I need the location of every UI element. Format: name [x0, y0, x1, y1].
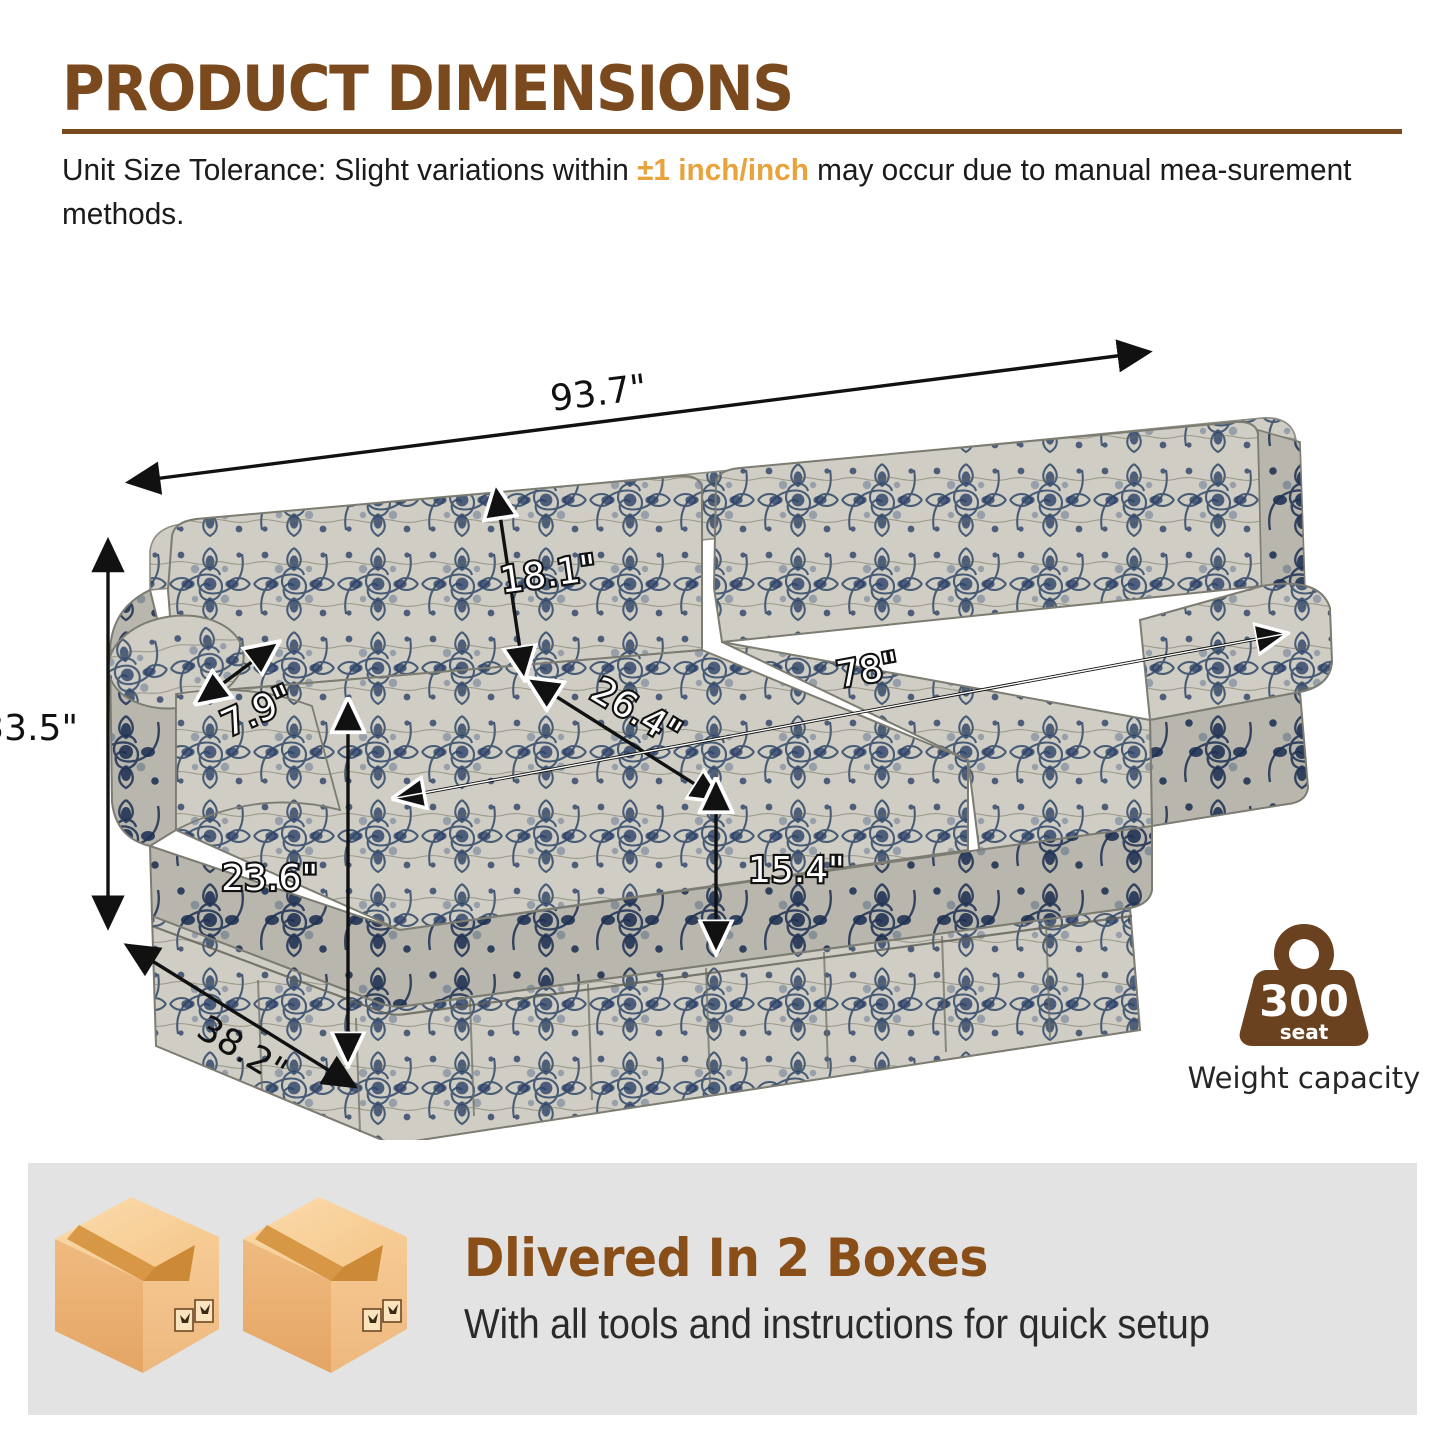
delivery-banner: Dlivered In 2 Boxes With all tools and i… [28, 1163, 1417, 1415]
header: PRODUCT DIMENSIONS Unit Size Tolerance: … [62, 58, 1402, 236]
box-1 [55, 1197, 219, 1373]
weight-unit: seat [1280, 1020, 1329, 1044]
sofa-illustration [102, 418, 1332, 1140]
weight-capacity-badge: 300 seat Weight capacity [1178, 920, 1430, 1095]
dimension-label-seat-to-floor: 15.4" [748, 850, 845, 891]
delivery-boxes-illustration [28, 1189, 458, 1389]
weight-capacity-label: Weight capacity [1178, 1061, 1430, 1095]
tolerance-value: ±1 inch/inch [637, 152, 809, 187]
dimension-label-overall-width: 93.7" [548, 367, 649, 420]
title-divider [62, 129, 1402, 134]
tolerance-note: Unit Size Tolerance: Slight variations w… [62, 148, 1396, 236]
dimension-overall-height: 33.5" [0, 542, 108, 926]
delivery-banner-subtitle: With all tools and instructions for quic… [464, 1301, 1322, 1347]
tolerance-note-pre: Unit Size Tolerance: Slight variations w… [62, 152, 637, 187]
delivery-banner-text: Dlivered In 2 Boxes With all tools and i… [458, 1231, 1417, 1347]
dimension-label-overall-height: 33.5" [0, 708, 78, 749]
delivery-banner-title: Dlivered In 2 Boxes [464, 1231, 1341, 1287]
dimension-label-arm-height: 23.6" [221, 858, 318, 899]
box-2 [243, 1197, 407, 1373]
weight-icon: 300 seat [1234, 920, 1374, 1048]
page-title: PRODUCT DIMENSIONS [62, 58, 1322, 120]
